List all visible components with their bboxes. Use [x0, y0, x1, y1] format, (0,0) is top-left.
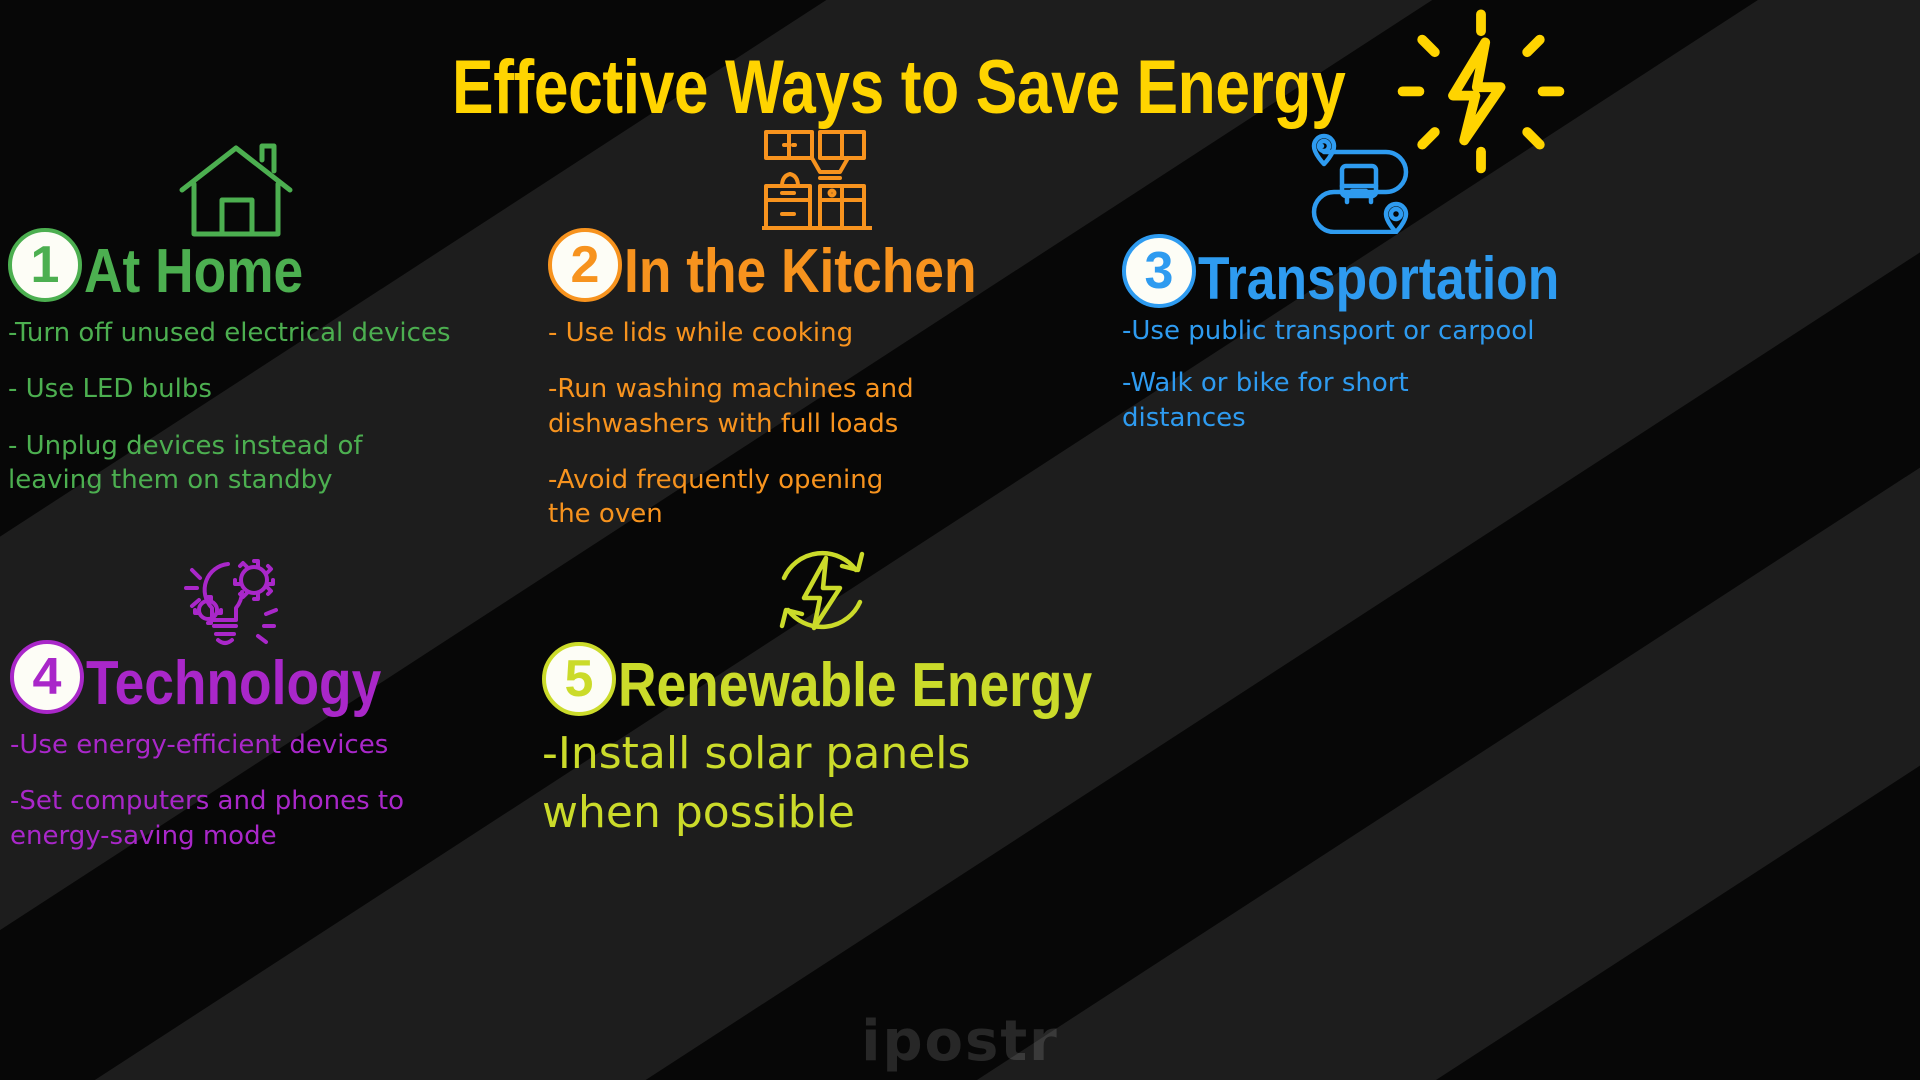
section-header: 5 Renewable Energy	[542, 642, 1242, 716]
section-bullets: -Install solar panels when possible	[542, 724, 1242, 843]
section-bullets: -Use public transport or carpool -Walk o…	[1122, 314, 1920, 435]
section-at-home: 1 At Home -Turn off unused electrical de…	[8, 228, 528, 519]
section-technology: 4 Technology -Use energy-efficient devic…	[10, 640, 510, 875]
section-title: Technology	[86, 655, 381, 712]
section-header: 4 Technology	[10, 640, 510, 714]
list-item: -Walk or bike for short distances	[1122, 366, 1920, 435]
section-header: 3 Transportation	[1122, 234, 1920, 308]
section-title: Transportation	[1198, 251, 1559, 306]
section-bullets: -Use energy-efficient devices -Set compu…	[10, 728, 510, 853]
section-number-badge: 5	[542, 642, 616, 716]
header: Effective Ways to Save Energy	[0, 28, 1920, 148]
section-renewable-energy: 5 Renewable Energy -Install solar panels…	[542, 642, 1242, 865]
list-item: -Use energy-efficient devices	[10, 728, 510, 762]
section-header: 2 In the Kitchen	[548, 228, 1018, 302]
section-number: 4	[33, 651, 62, 703]
section-title: Renewable Energy	[618, 657, 1092, 714]
section-title: At Home	[84, 243, 303, 300]
recycle-energy-icon	[764, 536, 880, 646]
section-number: 5	[565, 653, 594, 705]
section-number: 3	[1145, 245, 1174, 297]
list-item: - Use lids while cooking	[548, 316, 1018, 350]
section-bullets: - Use lids while cooking -Run washing ma…	[548, 316, 1018, 532]
section-number-badge: 2	[548, 228, 622, 302]
section-header: 1 At Home	[8, 228, 528, 302]
list-item: - Unplug devices instead of leaving them…	[8, 429, 528, 498]
list-item: -Set computers and phones to energy-savi…	[10, 784, 510, 853]
section-number-badge: 3	[1122, 234, 1196, 308]
infographic-canvas: Effective Ways to Save Energy	[0, 0, 1920, 1080]
section-number: 2	[571, 239, 600, 291]
section-transportation: 3 Transportation -Use public transport o…	[1122, 234, 1920, 453]
list-item: -Install solar panels when possible	[542, 724, 1242, 843]
list-item: -Use public transport or carpool	[1122, 314, 1920, 348]
watermark: ipostr	[861, 1009, 1058, 1074]
section-number-badge: 4	[10, 640, 84, 714]
sections-grid: 1 At Home -Turn off unused electrical de…	[0, 0, 1920, 1080]
list-item: -Turn off unused electrical devices	[8, 316, 528, 350]
list-item: -Avoid frequently opening the oven	[548, 463, 1018, 532]
section-number-badge: 1	[8, 228, 82, 302]
lightbulb-gears-icon	[178, 548, 290, 652]
section-title: In the Kitchen	[624, 243, 977, 300]
lightning-bolt-rays-icon	[1396, 6, 1566, 174]
list-item: - Use LED bulbs	[8, 372, 528, 406]
section-bullets: -Turn off unused electrical devices - Us…	[8, 316, 528, 497]
section-number: 1	[31, 239, 60, 291]
section-in-the-kitchen: 2 In the Kitchen - Use lids while cookin…	[548, 228, 1018, 554]
page-title: Effective Ways to Save Energy	[452, 50, 1345, 126]
list-item: -Run washing machines and dishwashers wi…	[548, 372, 1018, 441]
